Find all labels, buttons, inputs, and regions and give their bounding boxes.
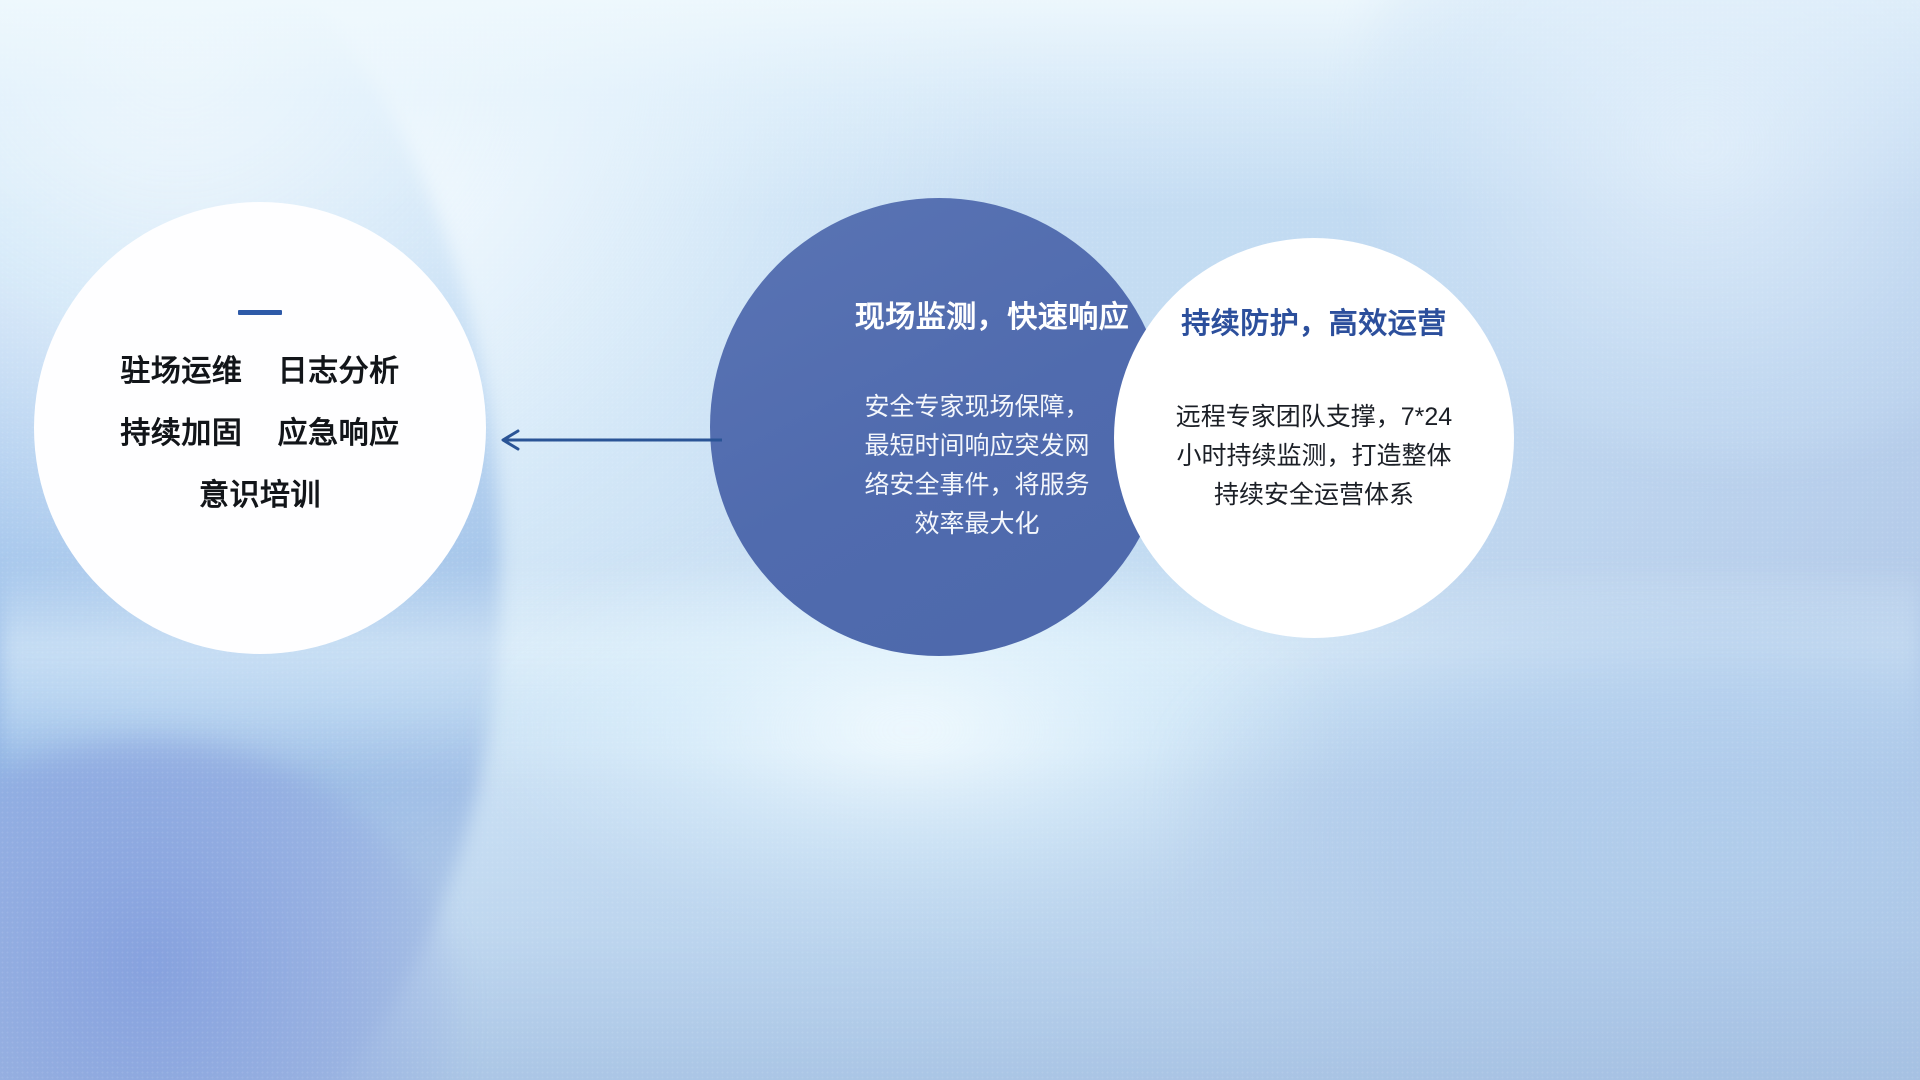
continuous-protection-body-line-1: 远程专家团队支撑，7*24: [1176, 398, 1452, 437]
capabilities-line-1: 驻场运维 日志分析: [120, 357, 399, 387]
node-onsite-monitoring-content: 现场监测，快速响应 安全专家现场保障， 最短时间响应突发网 络安全事件，将服务 …: [710, 198, 1168, 656]
node-continuous-protection-content: 持续防护，高效运营 远程专家团队支撑，7*24 小时持续监测，打造整体 持续安全…: [1114, 238, 1514, 638]
continuous-protection-body-line-2: 小时持续监测，打造整体: [1176, 437, 1452, 476]
onsite-monitoring-body-line-1: 安全专家现场保障，: [864, 388, 1089, 427]
node-capabilities[interactable]: 驻场运维 日志分析 持续加固 应急响应 意识培训: [34, 202, 486, 654]
continuous-protection-title: 持续防护，高效运营: [1181, 300, 1447, 342]
connector-arrow: [490, 428, 722, 452]
node-capabilities-content: 驻场运维 日志分析 持续加固 应急响应 意识培训: [34, 202, 486, 654]
onsite-monitoring-body-line-3: 络安全事件，将服务: [864, 466, 1089, 505]
continuous-protection-body: 远程专家团队支撑，7*24 小时持续监测，打造整体 持续安全运营体系: [1176, 398, 1452, 514]
capabilities-line-3: 意识培训: [120, 481, 399, 511]
continuous-protection-body-line-3: 持续安全运营体系: [1176, 476, 1452, 515]
node-onsite-monitoring[interactable]: 现场监测，快速响应 安全专家现场保障， 最短时间响应突发网 络安全事件，将服务 …: [710, 198, 1168, 656]
dash-separator-icon: [238, 310, 282, 315]
onsite-monitoring-body-line-4: 效率最大化: [864, 505, 1089, 544]
onsite-monitoring-title: 现场监测，快速响应: [855, 292, 1130, 336]
diagram-stage: 驻场运维 日志分析 持续加固 应急响应 意识培训 现场监测，快速响应 安全专家现…: [0, 0, 1920, 1080]
capabilities-line-2: 持续加固 应急响应: [120, 419, 399, 449]
onsite-monitoring-body: 安全专家现场保障， 最短时间响应突发网 络安全事件，将服务 效率最大化: [864, 388, 1089, 544]
onsite-monitoring-body-line-2: 最短时间响应突发网: [864, 427, 1089, 466]
capabilities-list: 驻场运维 日志分析 持续加固 应急响应 意识培训: [120, 357, 399, 511]
node-continuous-protection[interactable]: 持续防护，高效运营 远程专家团队支撑，7*24 小时持续监测，打造整体 持续安全…: [1114, 238, 1514, 638]
